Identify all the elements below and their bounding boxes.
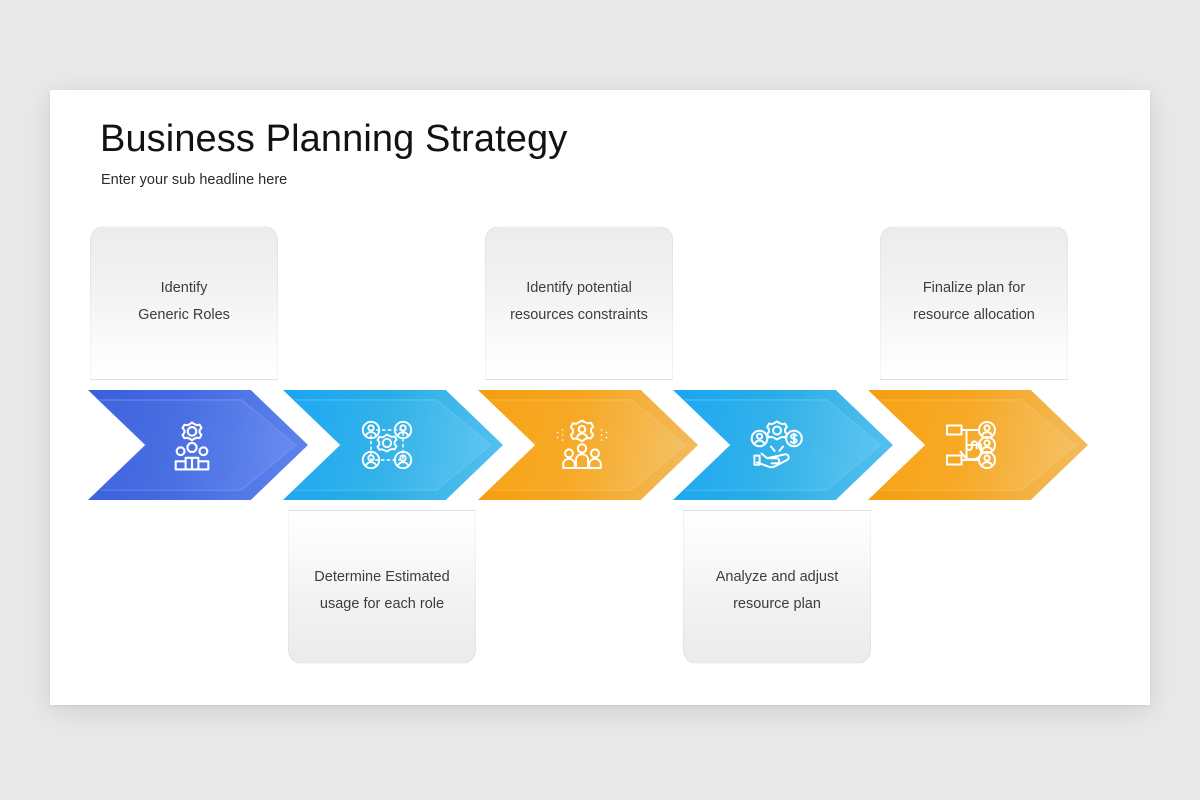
hand-orgchart-users-icon <box>868 390 1088 500</box>
slide-surface: Business Planning Strategy Enter your su… <box>50 90 1150 705</box>
step-card-2-line2: usage for each role <box>320 596 444 612</box>
step-card-2[interactable]: Determine Estimated usage for each role <box>288 510 476 664</box>
step-card-3-text: Identify potential resources constraints <box>502 275 656 329</box>
step-chevron-4[interactable] <box>673 390 893 500</box>
step-card-1-text: Identify Generic Roles <box>130 275 238 329</box>
step-card-5-line2: resource allocation <box>913 307 1035 323</box>
step-card-1-line2: Generic Roles <box>138 307 230 323</box>
hand-resources-icon <box>673 390 893 500</box>
step-card-2-line1: Determine Estimated <box>314 569 449 585</box>
step-card-3-line2: resources constraints <box>510 307 648 323</box>
gear-team-icon <box>88 390 308 500</box>
step-card-4-text: Analyze and adjust resource plan <box>708 564 847 618</box>
step-chevron-2[interactable] <box>283 390 503 500</box>
page-subtitle: Enter your sub headline here <box>101 172 287 188</box>
step-card-4-line2: resource plan <box>733 596 821 612</box>
step-card-4-line1: Analyze and adjust <box>716 569 839 585</box>
step-chevron-5[interactable] <box>868 390 1088 500</box>
step-card-2-text: Determine Estimated usage for each role <box>306 564 457 618</box>
step-card-5-text: Finalize plan for resource allocation <box>905 275 1043 329</box>
step-chevron-1[interactable] <box>88 390 308 500</box>
user-gear-group-icon <box>478 390 698 500</box>
step-card-3[interactable]: Identify potential resources constraints <box>485 226 673 380</box>
step-card-3-line1: Identify potential <box>526 280 632 296</box>
step-card-5-line1: Finalize plan for <box>923 280 1025 296</box>
page-title: Business Planning Strategy <box>100 118 567 161</box>
step-card-1[interactable]: Identify Generic Roles <box>90 226 278 380</box>
network-users-gear-icon <box>283 390 503 500</box>
step-chevron-3[interactable] <box>478 390 698 500</box>
step-card-4[interactable]: Analyze and adjust resource plan <box>683 510 871 664</box>
step-card-1-line1: Identify <box>161 280 208 296</box>
step-card-5[interactable]: Finalize plan for resource allocation <box>880 226 1068 380</box>
slide-canvas: Business Planning Strategy Enter your su… <box>0 0 1200 800</box>
